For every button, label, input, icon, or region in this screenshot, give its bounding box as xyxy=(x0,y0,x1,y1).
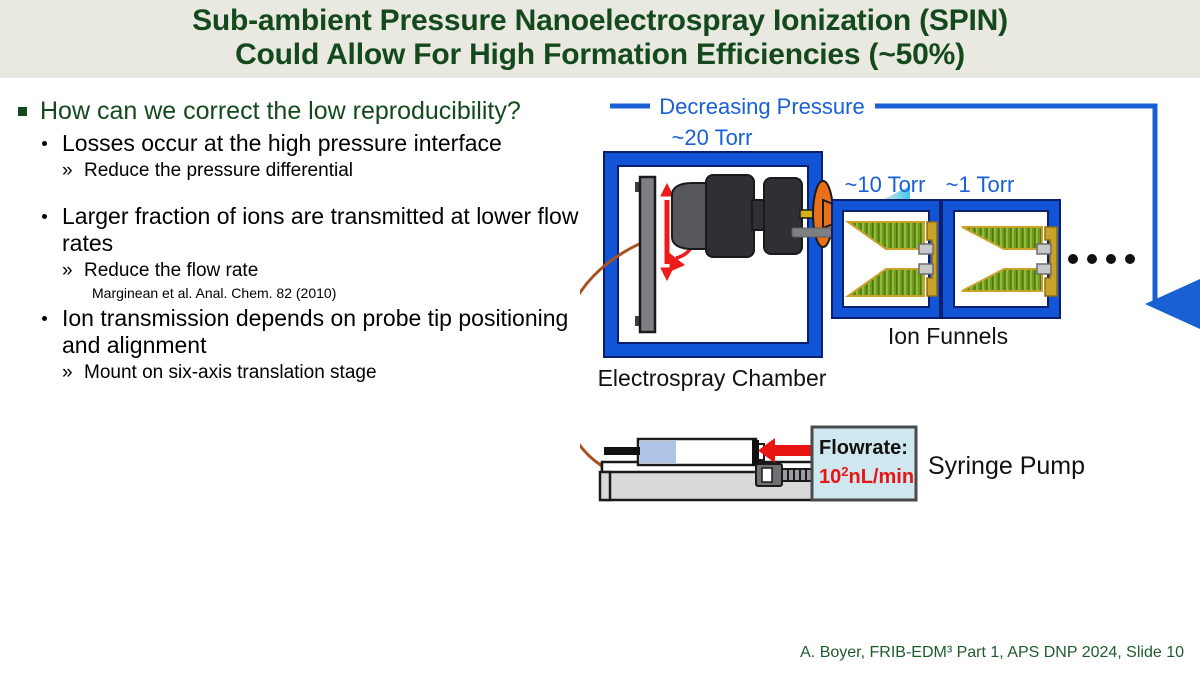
bullet-level1-label: How can we correct the low reproducibili… xyxy=(40,97,521,125)
nanospray-probe-assembly xyxy=(672,175,854,257)
bullet-level3-label: Mount on six-axis translation stage xyxy=(84,362,377,383)
bullet-level2-label: Losses occur at the high pressure interf… xyxy=(62,130,502,156)
decreasing-pressure-label: Decreasing Pressure xyxy=(659,94,864,119)
spin-apparatus-diagram: Decreasing Pressure ~20 Torr ~10 xyxy=(580,82,1200,552)
chevron-bullet-icon: » xyxy=(62,361,73,384)
bullet-level3-mount-stage: » Mount on six-axis translation stage xyxy=(62,361,594,384)
page-title: Sub-ambient Pressure Nanoelectrospray Io… xyxy=(0,4,1200,72)
spacer xyxy=(14,182,594,200)
bullet-level3-label: Reduce the pressure differential xyxy=(84,160,353,181)
funnel1-pressure-label: ~10 Torr xyxy=(845,172,926,197)
bullet-level2-label: Ion transmission depends on probe tip po… xyxy=(62,305,568,358)
flow-direction-arrow-icon xyxy=(758,438,815,463)
electrospray-chamber-label: Electrospray Chamber xyxy=(598,365,827,391)
syringe-pump: Flowrate: 102nL/min xyxy=(600,427,916,500)
ion-funnel-stage-2 xyxy=(942,200,1060,318)
bullet-level2-ion-transmission: Ion transmission depends on probe tip po… xyxy=(34,305,594,359)
citation-text: Marginean et al. Anal. Chem. 82 (2010) xyxy=(92,284,594,302)
flowrate-label: Flowrate: xyxy=(819,437,908,459)
bullet-level2-losses: Losses occur at the high pressure interf… xyxy=(34,130,594,157)
bullet-level3-reduce-flow: » Reduce the flow rate xyxy=(62,259,594,282)
bullet-list: How can we correct the low reproducibili… xyxy=(14,96,594,384)
bullet-level3-reduce-pressure: » Reduce the pressure differential xyxy=(62,159,594,182)
ion-funnels-label: Ion Funnels xyxy=(888,323,1008,349)
round-bullet-icon xyxy=(42,316,47,321)
page-title-line2: Could Allow For High Formation Efficienc… xyxy=(0,38,1200,72)
round-bullet-icon xyxy=(42,214,47,219)
continuation-dots xyxy=(1068,254,1135,264)
bullet-level3-label: Reduce the flow rate xyxy=(84,260,258,281)
bullet-level1-question: How can we correct the low reproducibili… xyxy=(14,96,594,126)
square-bullet-icon xyxy=(18,107,27,116)
flowrate-value: 102nL/min xyxy=(819,464,914,488)
page-title-line1: Sub-ambient Pressure Nanoelectrospray Io… xyxy=(0,4,1200,38)
chevron-bullet-icon: » xyxy=(62,259,73,282)
funnel2-pressure-label: ~1 Torr xyxy=(946,172,1015,197)
syringe-pump-label: Syringe Pump xyxy=(928,452,1085,480)
bullet-level2-label: Larger fraction of ions are transmitted … xyxy=(62,203,578,256)
bullet-level2-larger-fraction: Larger fraction of ions are transmitted … xyxy=(34,203,594,257)
round-bullet-icon xyxy=(42,141,47,146)
chamber-pressure-label: ~20 Torr xyxy=(672,125,753,150)
ion-funnel-stage-1 xyxy=(832,200,940,318)
slide-footer: A. Boyer, FRIB-EDM³ Part 1, APS DNP 2024… xyxy=(800,644,1184,662)
chevron-bullet-icon: » xyxy=(62,159,73,182)
